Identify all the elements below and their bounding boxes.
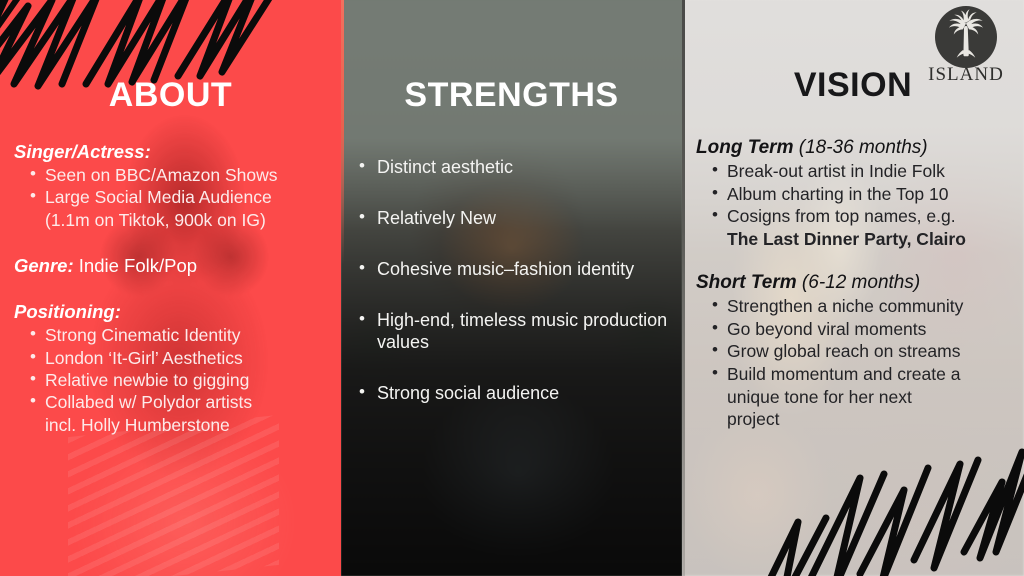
list-item: Cohesive music–fashion identity	[359, 259, 668, 281]
vision-label-note: (18-36 months)	[793, 137, 927, 158]
panel-vision: ISLAND VISION Long Term (18-36 months) B…	[682, 0, 1024, 576]
about-list-positioning: Strong Cinematic Identity London ‘It-Gir…	[30, 324, 327, 436]
list-item: Cosigns from top names, e.g.	[712, 205, 1010, 228]
list-item: unique tone for her next	[712, 386, 1010, 409]
list-item: (1.1m on Tiktok, 900k on IG)	[30, 209, 327, 231]
vision-body: Long Term (18-36 months) Break-out artis…	[696, 137, 1010, 431]
vision-label-short-term: Short Term (6-12 months)	[696, 272, 1010, 294]
about-label-singer-actress: Singer/Actress:	[14, 141, 327, 163]
pitch-deck-slide: ABOUT Singer/Actress: Seen on BBC/Amazon…	[0, 0, 1024, 576]
vision-list-long-term: Break-out artist in Indie Folk Album cha…	[712, 160, 1010, 250]
list-item: Collabed w/ Polydor artists	[30, 391, 327, 413]
strengths-title: STRENGTHS	[355, 0, 668, 115]
list-item: Build momentum and create a	[712, 363, 1010, 386]
spacer	[14, 231, 327, 253]
about-label-text: Positioning:	[14, 301, 121, 322]
palm-tree-icon	[935, 6, 997, 68]
vision-list-short-term: Strengthen a niche community Go beyond v…	[712, 295, 1010, 430]
about-content: ABOUT Singer/Actress: Seen on BBC/Amazon…	[0, 0, 341, 576]
panel-about: ABOUT Singer/Actress: Seen on BBC/Amazon…	[0, 0, 341, 576]
list-item: Seen on BBC/Amazon Shows	[30, 164, 327, 186]
vision-label-note: (6-12 months)	[797, 272, 921, 293]
list-item: The Last Dinner Party, Clairo	[712, 228, 1010, 251]
list-item: Large Social Media Audience	[30, 186, 327, 208]
about-label-genre: Genre: Indie Folk/Pop	[14, 255, 327, 277]
list-item: Strengthen a niche community	[712, 295, 1010, 318]
list-item: Strong Cinematic Identity	[30, 324, 327, 346]
island-records-logo: ISLAND	[922, 6, 1010, 86]
about-title: ABOUT	[14, 0, 327, 115]
strengths-content: STRENGTHS Distinct aesthetic Relatively …	[341, 0, 682, 576]
panel-strengths: STRENGTHS Distinct aesthetic Relatively …	[341, 0, 682, 576]
list-item: Distinct aesthetic	[359, 157, 668, 179]
list-item: Break-out artist in Indie Folk	[712, 160, 1010, 183]
list-item: Album charting in the Top 10	[712, 183, 1010, 206]
list-item: Strong social audience	[359, 383, 668, 405]
list-item: project	[712, 408, 1010, 431]
about-label-text: Genre:	[14, 255, 74, 276]
list-item: Relatively New	[359, 208, 668, 230]
about-list-singer-actress: Seen on BBC/Amazon Shows Large Social Me…	[30, 164, 327, 231]
about-body: Singer/Actress: Seen on BBC/Amazon Shows…	[14, 141, 327, 436]
vision-label-long-term: Long Term (18-36 months)	[696, 137, 1010, 159]
about-label-positioning: Positioning:	[14, 301, 327, 323]
list-item: High-end, timeless music production valu…	[359, 310, 668, 354]
vision-label-text: Short Term	[696, 272, 797, 293]
list-item: London ‘It-Girl’ Aesthetics	[30, 347, 327, 369]
about-label-text: Singer/Actress:	[14, 141, 151, 162]
strengths-list: Distinct aesthetic Relatively New Cohesi…	[359, 157, 668, 405]
list-item: incl. Holly Humberstone	[30, 414, 327, 436]
spacer	[696, 250, 1010, 272]
vision-content: VISION Long Term (18-36 months) Break-ou…	[682, 0, 1024, 576]
list-item: Go beyond viral moments	[712, 318, 1010, 341]
spacer	[14, 277, 327, 299]
list-item: Relative newbie to gigging	[30, 369, 327, 391]
logo-disc	[935, 6, 997, 68]
about-label-value: Indie Folk/Pop	[74, 255, 197, 276]
vision-label-text: Long Term	[696, 137, 793, 158]
list-item: Grow global reach on streams	[712, 340, 1010, 363]
